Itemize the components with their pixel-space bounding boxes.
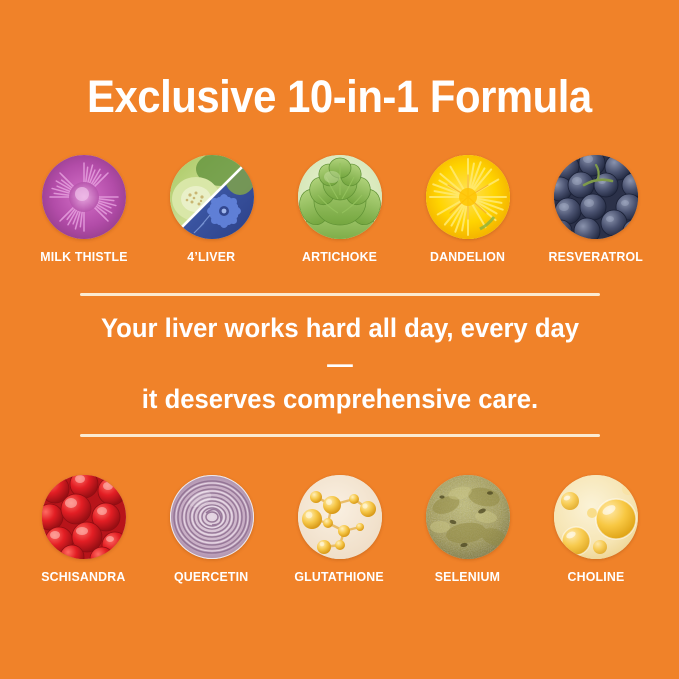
ingredient-row-bottom: SCHISANDRA bbox=[30, 475, 650, 583]
ingredient-dandelion: DANDELION bbox=[419, 155, 517, 263]
divider-bottom bbox=[80, 434, 600, 437]
ingredient-selenium: SELENIUM bbox=[419, 475, 517, 583]
page-title: Exclusive 10-in-1 Formula bbox=[87, 74, 592, 119]
oil-droplets-icon bbox=[554, 475, 638, 559]
ingredient-label: CHOLINE bbox=[567, 570, 624, 583]
four-liver-split-icon bbox=[170, 155, 254, 239]
ingredient-artichoke: ARTICHOKE bbox=[291, 155, 389, 263]
ingredient-label: 4’LIVER bbox=[187, 250, 235, 263]
ingredient-choline: CHOLINE bbox=[547, 475, 645, 583]
grapes-icon bbox=[554, 155, 638, 239]
ingredient-label: SCHISANDRA bbox=[41, 570, 125, 583]
ingredient-label: ARTICHOKE bbox=[302, 250, 377, 263]
red-onion-slice-icon bbox=[170, 475, 254, 559]
ingredient-milk-thistle: MILK THISTLE bbox=[35, 155, 133, 263]
milk-thistle-flower-icon bbox=[42, 155, 126, 239]
ingredient-label: RESVERATROL bbox=[548, 250, 642, 263]
tagline-block: Your liver works hard all day, every day… bbox=[80, 293, 600, 437]
schisandra-berries-icon bbox=[42, 475, 126, 559]
ingredient-resveratrol: RESVERATROL bbox=[547, 155, 645, 263]
ingredient-label: MILK THISTLE bbox=[40, 250, 127, 263]
dandelion-flower-icon bbox=[426, 155, 510, 239]
ingredient-schisandra: SCHISANDRA bbox=[35, 475, 133, 583]
molecule-icon bbox=[298, 475, 382, 559]
artichoke-icon bbox=[298, 155, 382, 239]
ingredient-label: DANDELION bbox=[430, 250, 505, 263]
selenium-powder-icon bbox=[426, 475, 510, 559]
ingredient-quercetin: QUERCETIN bbox=[163, 475, 261, 583]
tagline-text: Your liver works hard all day, every day… bbox=[93, 296, 587, 434]
ingredient-glutathione: GLUTATHIONE bbox=[291, 475, 389, 583]
ingredient-label: SELENIUM bbox=[435, 570, 500, 583]
ingredient-label: GLUTATHIONE bbox=[295, 570, 384, 583]
infographic-panel: Exclusive 10-in-1 Formula bbox=[0, 0, 679, 679]
ingredient-label: QUERCETIN bbox=[174, 570, 248, 583]
ingredient-row-top: MILK THISTLE bbox=[30, 155, 650, 263]
ingredient-4liver: 4’LIVER bbox=[163, 155, 261, 263]
